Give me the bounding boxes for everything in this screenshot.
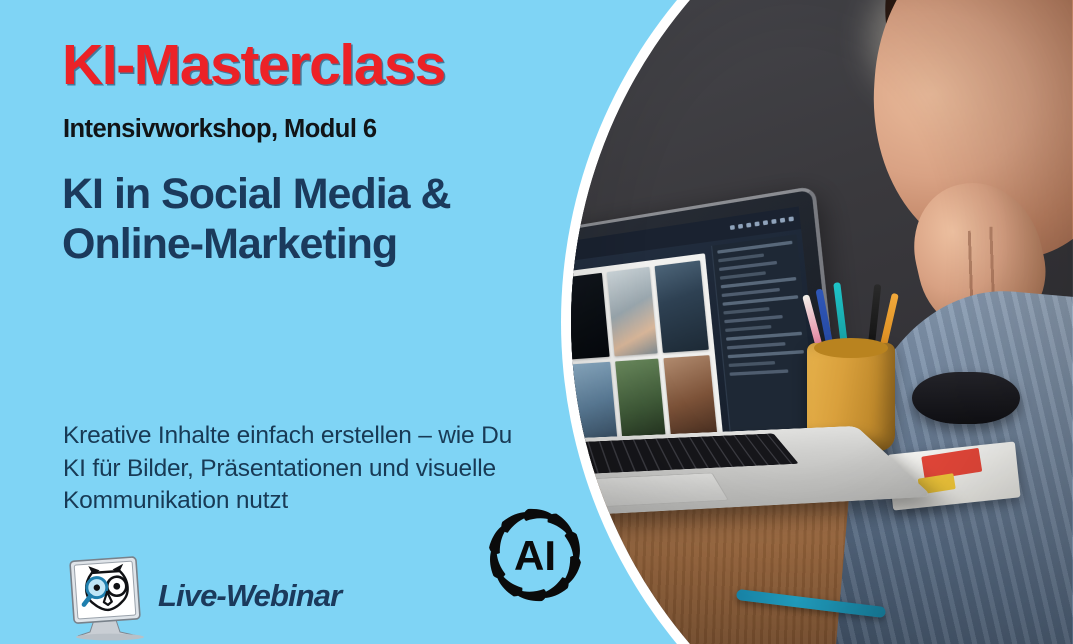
photo-thumbnail — [655, 260, 709, 352]
page-title: KI in Social Media & Online-Marketing — [62, 170, 532, 270]
description-text: Kreative Inhalte einfach erstellen – wie… — [63, 420, 513, 518]
toolbar-dot-icon — [771, 219, 776, 224]
panel-row — [726, 332, 802, 341]
hero-photo — [571, 0, 1072, 644]
toolbar-dot-icon — [780, 218, 785, 223]
toolbar-dot-icon — [730, 225, 735, 230]
owl-monitor-logo-icon — [60, 556, 152, 642]
photo-thumbnail — [607, 267, 658, 356]
editor-thumbnail-grid — [571, 253, 725, 452]
ai-aperture-badge: AI — [474, 500, 596, 610]
panel-row — [723, 307, 769, 315]
live-webinar-lockup: Live-Webinar — [60, 556, 341, 642]
photo-thumbnail — [615, 358, 666, 445]
panel-row — [720, 271, 766, 280]
panel-row — [729, 361, 776, 367]
live-webinar-label: Live-Webinar — [158, 578, 341, 614]
panel-row — [729, 369, 788, 376]
panel-row — [727, 342, 786, 349]
hero-photo-circle — [571, 0, 1073, 644]
panel-row — [724, 315, 783, 323]
panel-row — [719, 261, 777, 271]
panel-row — [725, 325, 771, 332]
promo-banner: KI-Masterclass Intensivworkshop, Modul 6… — [0, 0, 1073, 644]
panel-row — [722, 288, 781, 297]
panel-row — [721, 277, 797, 289]
brand-title: KI-Masterclass — [62, 36, 445, 94]
toolbar-dot-icon — [746, 223, 751, 228]
photo-thumbnail — [571, 361, 618, 446]
ai-badge-label: AI — [514, 532, 556, 579]
toolbar-dot-icon — [738, 224, 743, 229]
brand-subtitle: Intensivworkshop, Modul 6 — [63, 115, 377, 144]
panel-row — [718, 253, 764, 262]
panel-row — [717, 241, 792, 254]
panel-row — [728, 350, 804, 358]
toolbar-dot-icon — [754, 221, 759, 226]
laptop-keyboard — [571, 433, 799, 475]
camera-aperture-icon: AI — [474, 500, 596, 610]
toolbar-dot-icon — [763, 220, 768, 225]
dark-desk-object — [912, 372, 1020, 424]
panel-row — [722, 295, 798, 306]
editor-side-panel — [711, 234, 820, 455]
laptop-trackpad — [592, 473, 729, 507]
photo-thumbnail — [571, 273, 610, 359]
laptop-screen — [571, 206, 826, 462]
toolbar-dot-icon — [788, 216, 793, 221]
